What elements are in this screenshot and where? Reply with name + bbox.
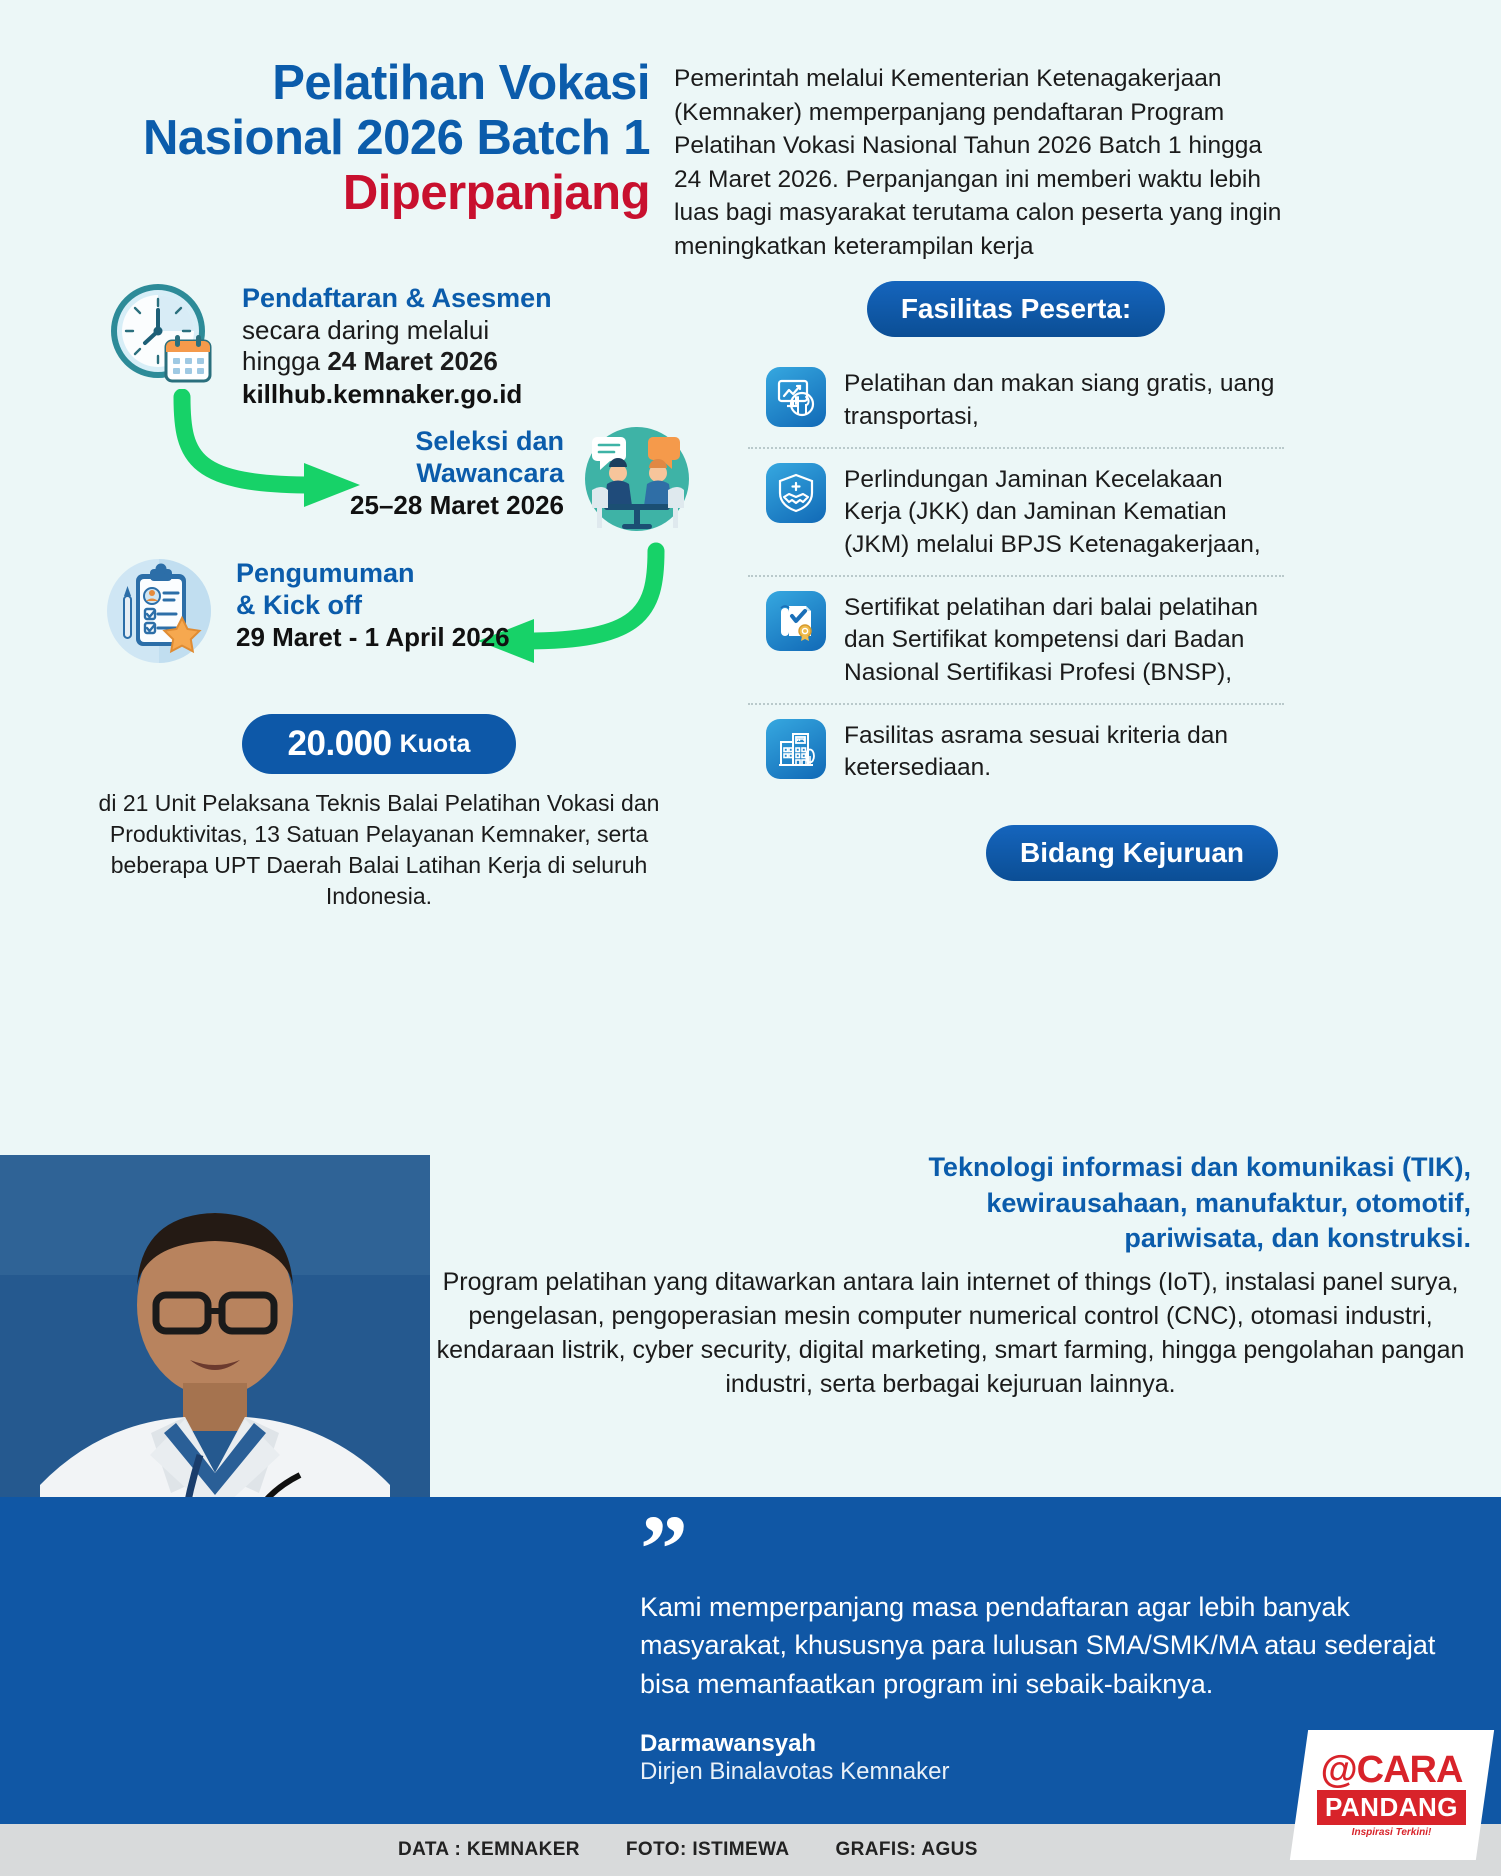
quote-mark-icon: ” (640, 1520, 1461, 1578)
quota-label: Kuota (400, 730, 471, 759)
logo-cara-text: @CARA (1317, 1752, 1466, 1788)
step2-heading-2: Wawancara (334, 458, 564, 489)
dormitory-building-icon (766, 719, 826, 779)
facility-text: Fasilitas asrama sesuai kriteria dan ket… (844, 719, 1284, 785)
header: Pelatihan Vokasi Nasional 2026 Batch 1 D… (0, 0, 1501, 263)
main-content: Pendaftaran & Asesmen secara daring mela… (0, 281, 1501, 911)
quota-number: 20.000 (288, 724, 392, 764)
title-line-2: Nasional 2026 Batch 1 (50, 111, 650, 166)
logo-inner: @CARA PANDANG Inspirasi Terkini! (1317, 1752, 1466, 1838)
timeline-step-2: Seleksi dan Wawancara 25–28 Maret 2026 (334, 420, 724, 538)
shield-handshake-icon (766, 463, 826, 523)
step1-line2-bold: 24 Maret 2026 (327, 346, 498, 376)
bidang-headline-3: pariwisata, dan konstruksi. (430, 1221, 1471, 1257)
intro-text: Pemerintah melalui Kementerian Ketenagak… (674, 62, 1294, 263)
facility-text: Perlindungan Jaminan Kecelakaan Kerja (J… (844, 463, 1284, 561)
footer-data: DATA : KEMNAKER (398, 1839, 580, 1861)
list-item: Perlindungan Jaminan Kecelakaan Kerja (J… (748, 447, 1284, 575)
bidang-headline-1: Teknologi informasi dan komunikasi (TIK)… (430, 1150, 1471, 1186)
step1-line2: hingga 24 Maret 2026 (242, 346, 552, 378)
list-item: Fasilitas asrama sesuai kriteria dan ket… (748, 703, 1284, 799)
bidang-body-text: Program pelatihan yang ditawarkan antara… (430, 1265, 1471, 1401)
bidang-title-wrap: Bidang Kejuruan (748, 825, 1284, 881)
timeline-column: Pendaftaran & Asesmen secara daring mela… (34, 281, 724, 911)
logo-tagline: Inspirasi Terkini! (1317, 1827, 1466, 1838)
facilities-column: Fasilitas Peserta: (724, 281, 1284, 911)
list-item: Sertifikat pelatihan dari balai pelatiha… (748, 575, 1284, 703)
title-line-1: Pelatihan Vokasi (50, 56, 650, 111)
timeline-step-3-text: Pengumuman & Kick off 29 Maret - 1 April… (236, 552, 510, 670)
step1-line1: secara daring melalui (242, 315, 552, 347)
page-title: Pelatihan Vokasi Nasional 2026 Batch 1 D… (50, 48, 650, 263)
step2-heading-1: Seleksi dan (334, 426, 564, 457)
bidang-headline-2: kewirausahaan, manufaktur, otomotif, (430, 1186, 1471, 1222)
intro-paragraph: Pemerintah melalui Kementerian Ketenagak… (674, 48, 1294, 263)
quota-description: di 21 Unit Pelaksana Teknis Balai Pelati… (79, 788, 679, 911)
logo-pandang-label: PANDANG (1317, 1790, 1466, 1825)
step3-date: 29 Maret - 1 April 2026 (236, 621, 510, 653)
clipboard-star-icon (100, 552, 218, 670)
timeline-step-3: Pengumuman & Kick off 29 Maret - 1 April… (100, 552, 724, 670)
list-item: Pelatihan dan makan siang gratis, uang t… (748, 353, 1284, 447)
footer-grafis: GRAFIS: AGUS (836, 1839, 978, 1861)
quota-badge: 20.000 Kuota (242, 714, 516, 774)
infographic-page: Pelatihan Vokasi Nasional 2026 Batch 1 D… (0, 0, 1501, 1876)
step2-date: 25–28 Maret 2026 (334, 489, 564, 521)
facilities-title-wrap: Fasilitas Peserta: (748, 281, 1284, 337)
certificate-icon (766, 591, 826, 651)
quote-text: Kami memperpanjang masa pendaftaran agar… (640, 1588, 1461, 1705)
step3-heading-2: & Kick off (236, 590, 510, 621)
bidang-title: Bidang Kejuruan (986, 825, 1278, 881)
facilities-title: Fasilitas Peserta: (867, 281, 1165, 337)
footer-foto: FOTO: ISTIMEWA (626, 1839, 790, 1861)
facility-text: Sertifikat pelatihan dari balai pelatiha… (844, 591, 1284, 689)
step3-heading-1: Pengumuman (236, 558, 510, 589)
cara-pandang-logo: @CARA PANDANG Inspirasi Terkini! (1290, 1730, 1494, 1860)
timeline-step-2-text: Seleksi dan Wawancara 25–28 Maret 2026 (334, 420, 564, 538)
clock-calendar-icon (104, 277, 222, 395)
title-line-3: Diperpanjang (50, 166, 650, 221)
interview-icon (578, 420, 696, 538)
footer-bar: DATA : KEMNAKER FOTO: ISTIMEWA GRAFIS: A… (0, 1824, 1501, 1876)
bidang-section: Teknologi informasi dan komunikasi (TIK)… (430, 1150, 1471, 1401)
logo-cara-label: CARA (1357, 1749, 1463, 1791)
facility-text: Pelatihan dan makan siang gratis, uang t… (844, 367, 1284, 433)
at-icon: @ (1321, 1749, 1357, 1791)
step1-heading: Pendaftaran & Asesmen (242, 283, 552, 314)
facilities-list: Pelatihan dan makan siang gratis, uang t… (748, 353, 1284, 798)
step1-line2-plain: hingga (242, 346, 327, 376)
training-meal-icon (766, 367, 826, 427)
